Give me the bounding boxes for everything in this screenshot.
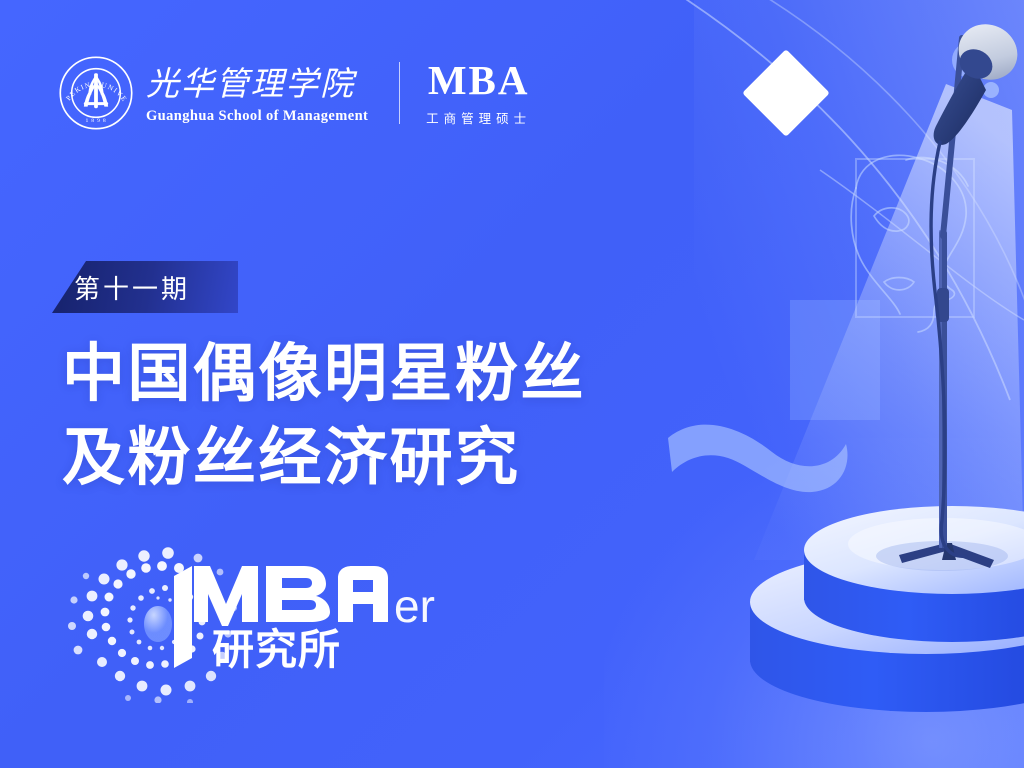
program-abbr: MBA [428, 60, 530, 101]
logo-divider [399, 62, 400, 124]
school-name-cn: 光华管理学院 [146, 61, 375, 105]
podium-upper [804, 506, 1024, 642]
presentation-slide: PEKING UNIVERSITY 1 8 9 8 光华管理学院 Guanghu… [0, 0, 1024, 768]
school-name-block: 光华管理学院 Guanghua School of Management [146, 61, 375, 125]
title-line-2: 及粉丝经济研究 [62, 416, 702, 500]
svg-text:er: er [394, 580, 435, 632]
program-name-cn: 工商管理硕士 [426, 108, 531, 127]
page-title: 中国偶像明星粉丝 及粉丝经济研究 [62, 332, 702, 501]
issue-banner: 第十一期 [52, 261, 238, 313]
title-line-1: 中国偶像明星粉丝 [62, 332, 702, 416]
peking-university-seal-icon: PEKING UNIVERSITY 1 8 9 8 [58, 55, 134, 131]
issue-label: 第十一期 [74, 269, 190, 306]
seal-year-text: 1 8 9 8 [86, 118, 107, 124]
school-name-en: Guanghua School of Management [146, 108, 375, 125]
program-block: MBA 工商管理硕士 [426, 60, 531, 127]
brand-header: PEKING UNIVERSITY 1 8 9 8 光华管理学院 Guanghu… [58, 55, 531, 131]
spotlight-cone [754, 84, 1024, 560]
institute-name-cn: 研究所 [212, 625, 341, 672]
stage-illustration [694, 0, 1024, 768]
spiral-seed [144, 606, 172, 642]
mbaer-suffix: er [394, 580, 435, 632]
svg-text:光华管理学院: 光华管理学院 [146, 64, 358, 103]
institute-logo: er 研究所 [62, 538, 422, 703]
institute-wordmark: er 研究所 [170, 562, 470, 672]
